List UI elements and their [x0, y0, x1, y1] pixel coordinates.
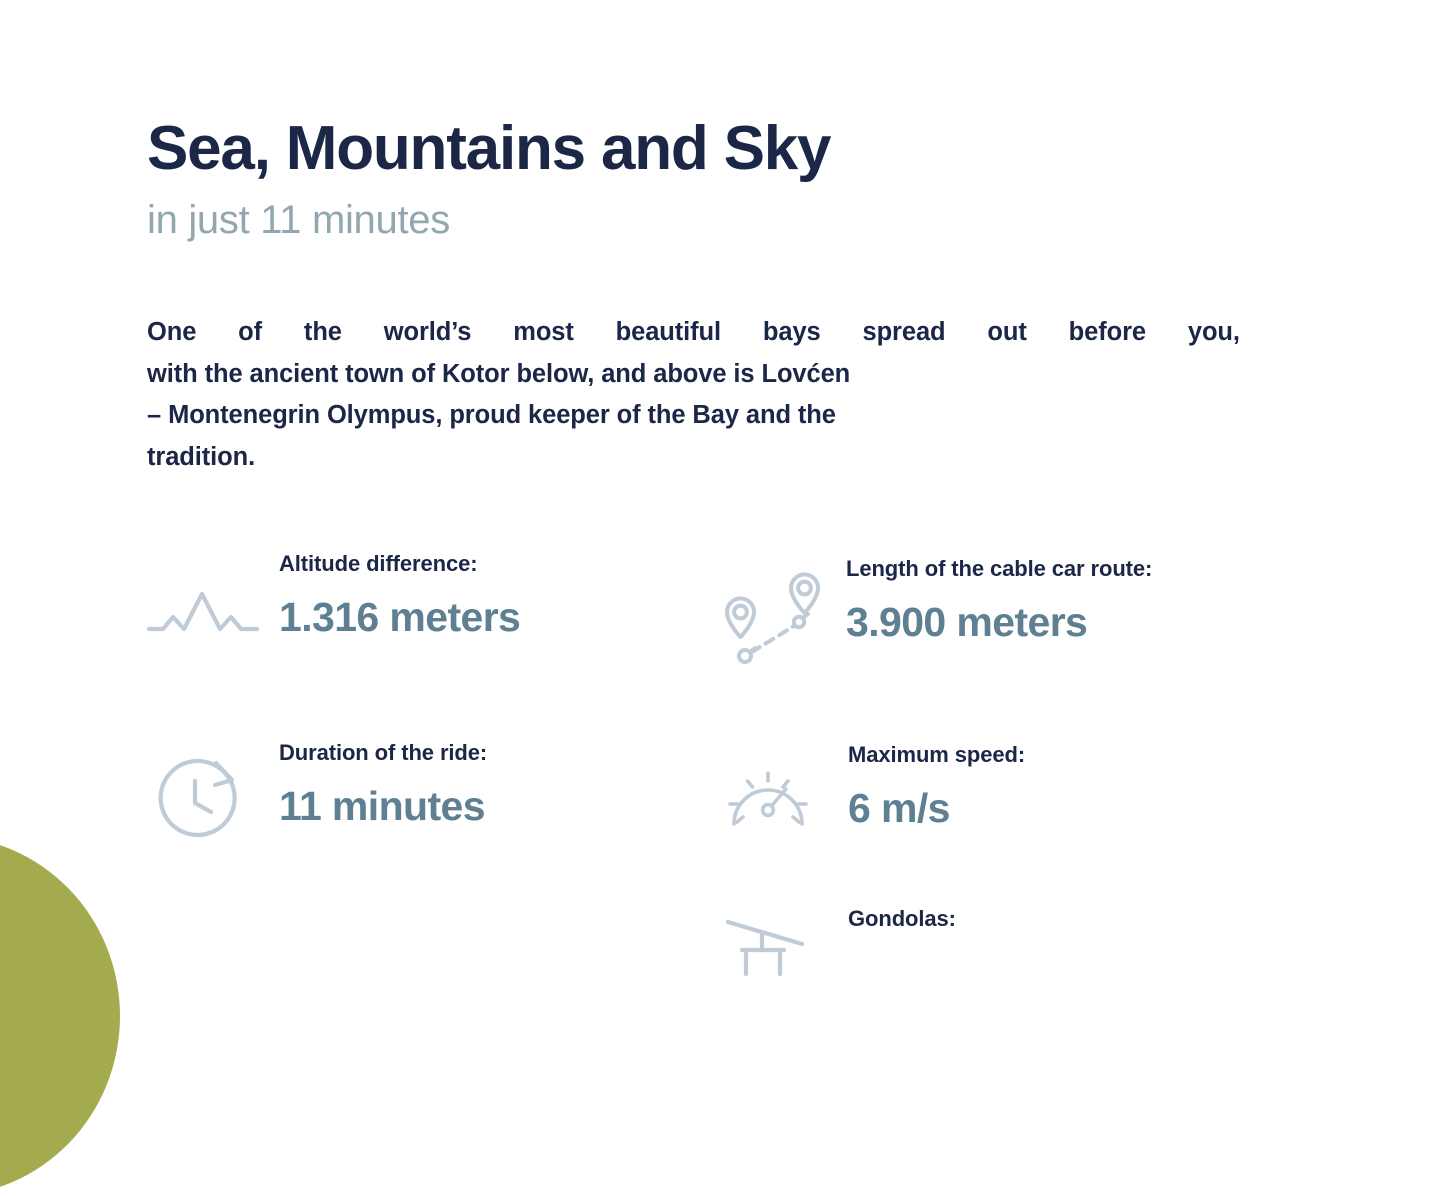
intro-word: you,: [1188, 312, 1240, 354]
stat-maximum-speed: Maximum speed: 6 m/s: [722, 744, 1025, 846]
speedometer-icon: [722, 760, 822, 846]
intro-word: most: [513, 312, 574, 354]
stat-value: 11 minutes: [279, 786, 487, 827]
intro-line-4: tradition.: [147, 437, 1240, 479]
intro-word: One: [147, 312, 196, 354]
stat-value: 3.900 meters: [846, 602, 1152, 643]
stat-label: Maximum speed:: [848, 744, 1025, 766]
intro-word: bays: [763, 312, 821, 354]
stat-text: Duration of the ride: 11 minutes: [279, 742, 487, 827]
gondola-icon: [722, 916, 822, 976]
stat-label: Gondolas:: [848, 908, 956, 930]
intro-word: before: [1069, 312, 1146, 354]
stat-label: Length of the cable car route:: [846, 558, 1152, 580]
stat-ride-duration: Duration of the ride: 11 minutes: [147, 742, 487, 844]
intro-word: the: [304, 312, 342, 354]
intro-word: world’s: [384, 312, 472, 354]
intro-word: spread: [863, 312, 946, 354]
mountains-icon: [147, 573, 259, 659]
intro-word: out: [987, 312, 1026, 354]
page-title: Sea, Mountains and Sky: [147, 118, 1297, 180]
stat-label: Altitude difference:: [279, 553, 520, 575]
stat-value: 6 m/s: [848, 788, 1025, 829]
stat-value: 1.316 meters: [279, 597, 520, 638]
intro-paragraph: Oneoftheworld’smostbeautifulbaysspreadou…: [147, 312, 1240, 478]
stat-text: Altitude difference: 1.316 meters: [279, 553, 520, 638]
stat-label: Duration of the ride:: [279, 742, 487, 764]
clock-arrow-icon: [147, 758, 259, 844]
stat-text: Maximum speed: 6 m/s: [848, 744, 1025, 829]
route-pins-icon: [716, 564, 828, 666]
intro-line-2: with the ancient town of Kotor below, an…: [147, 354, 1240, 396]
stat-altitude-difference: Altitude difference: 1.316 meters: [147, 553, 520, 659]
stat-text: Length of the cable car route: 3.900 met…: [846, 558, 1152, 643]
intro-word: beautiful: [616, 312, 721, 354]
stat-cable-car-route-length: Length of the cable car route: 3.900 met…: [716, 558, 1152, 666]
intro-line-3: – Montenegrin Olympus, proud keeper of t…: [147, 395, 1240, 437]
heading-block: Sea, Mountains and Sky in just 11 minute…: [147, 118, 1297, 240]
infographic-page: Sea, Mountains and Sky in just 11 minute…: [0, 0, 1440, 960]
stat-gondolas: Gondolas:: [722, 908, 956, 976]
stat-text: Gondolas:: [848, 908, 956, 930]
intro-line-1: Oneoftheworld’smostbeautifulbaysspreadou…: [147, 312, 1240, 354]
page-subtitle: in just 11 minutes: [147, 200, 1297, 240]
intro-word: of: [238, 312, 262, 354]
